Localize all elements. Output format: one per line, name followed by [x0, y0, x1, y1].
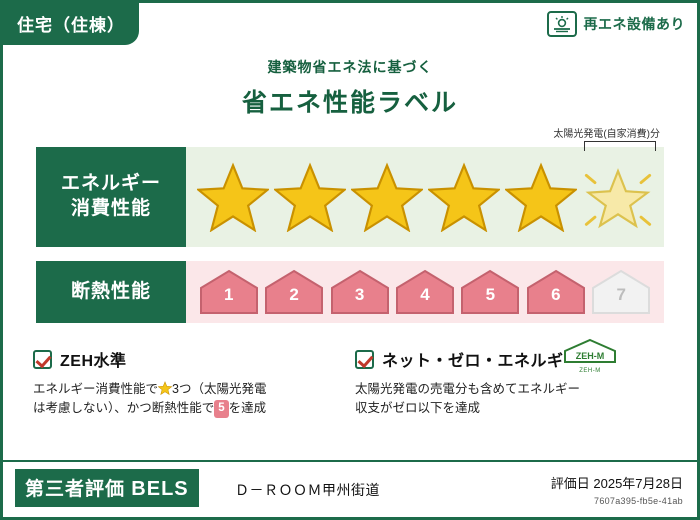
star-icon	[274, 162, 346, 232]
check-icon	[33, 350, 52, 369]
nz-body-1: 太陽光発電の売電分も含めてエネルギー	[355, 380, 675, 399]
criterion-net-zero: ネット・ゼロ・エネルギー ZEH-M ZEH-M 太陽光発電の売電分も含めてエネ…	[355, 347, 675, 419]
star-icon	[505, 162, 577, 232]
title-sub: 建築物省エネ法に基づく	[3, 57, 697, 77]
insulation-level-7: 7	[590, 268, 652, 316]
star-icon	[351, 162, 423, 232]
title-block: 建築物省エネ法に基づく 省エネ性能ラベル	[3, 57, 697, 119]
zeh-body-2: 3つ（太陽光発電	[172, 382, 266, 396]
eval-date-line: 評価日 2025年7月28日	[551, 473, 683, 492]
criterion-zeh-body: エネルギー消費性能で3つ（太陽光発電 は考慮しない）、かつ断熱性能で5を達成	[33, 380, 333, 419]
insulation-performance-label: 断熱性能	[36, 261, 186, 323]
label-page: 住宅（住棟） 再エネ設備あり 建築物省エネ法に基づく 省エネ性能ラベル エネルギ…	[0, 0, 700, 520]
page-title: 省エネ性能ラベル	[3, 83, 697, 119]
star-icon	[428, 162, 500, 232]
zeh-m-badge: ZEH-M ZEH-M	[561, 338, 619, 374]
zeh-body-3: は考慮しない）、かつ断熱性能で	[33, 401, 214, 415]
zeh-body-1: エネルギー消費性能で	[33, 382, 158, 396]
sun-icon	[547, 11, 577, 37]
star-icon-pv	[582, 162, 654, 232]
insulation-performance-row: 断熱性能 1 2 3 4 5 6	[36, 261, 664, 323]
footer-divider	[3, 460, 697, 462]
zeh-m-caption: ZEH-M	[561, 368, 619, 374]
bels-badge: 第三者評価 BELS	[15, 469, 199, 507]
third-party-label: 第三者評価	[25, 479, 125, 500]
zeh-body-4: を達成	[229, 401, 267, 415]
insulation-level-6: 6	[525, 268, 587, 316]
insulation-level-number: 4	[394, 285, 456, 305]
eval-date-value: 2025年7月28日	[593, 476, 683, 491]
energy-stars: 太陽光発電(自家消費)分	[186, 147, 664, 247]
nz-body-2: 収支がゼロ以下を達成	[355, 399, 675, 418]
check-icon	[355, 350, 374, 369]
bels-label: BELS	[131, 478, 188, 500]
insulation-level-number: 5	[459, 285, 521, 305]
criterion-net-zero-body: 太陽光発電の売電分も含めてエネルギー 収支がゼロ以下を達成	[355, 380, 675, 419]
zeh-level-badge: 5	[214, 400, 228, 418]
criterion-zeh-head: ZEH水準	[33, 347, 333, 371]
criterion-zeh: ZEH水準 エネルギー消費性能で3つ（太陽光発電 は考慮しない）、かつ断熱性能で…	[33, 347, 333, 419]
building-type-badge: 住宅（住棟）	[3, 3, 139, 45]
pv-bracket	[584, 141, 656, 151]
insulation-levels: 1 2 3 4 5 6 7	[186, 261, 664, 323]
zeh-m-house-icon: ZEH-M	[562, 338, 618, 364]
estate-name: Ｄ－ＲＯＯＭ甲州街道	[235, 480, 380, 500]
evaluation-info: 評価日 2025年7月28日 7607a395-fb5e-41ab	[551, 473, 683, 506]
insulation-level-2: 2	[263, 268, 325, 316]
criterion-net-zero-title: ネット・ゼロ・エネルギー	[382, 347, 580, 371]
energy-performance-row: エネルギー 消費性能 太陽光発電(自家消費)分	[36, 147, 664, 247]
energy-label-line1: エネルギー	[61, 172, 161, 197]
svg-text:ZEH-M: ZEH-M	[576, 351, 605, 361]
insulation-level-number: 1	[198, 285, 260, 305]
eval-date-label: 評価日	[551, 476, 590, 491]
insulation-level-4: 4	[394, 268, 456, 316]
insulation-level-1: 1	[198, 268, 260, 316]
criterion-zeh-title: ZEH水準	[60, 347, 127, 371]
eval-id: 7607a395-fb5e-41ab	[551, 496, 683, 506]
star-icon-small	[158, 381, 172, 395]
insulation-level-number: 6	[525, 285, 587, 305]
energy-performance-label: エネルギー 消費性能	[36, 147, 186, 247]
criterion-net-zero-head: ネット・ゼロ・エネルギー ZEH-M ZEH-M	[355, 347, 675, 371]
insulation-level-number: 2	[263, 285, 325, 305]
insulation-level-number: 7	[590, 285, 652, 305]
star-icon	[197, 162, 269, 232]
renewable-label: 再エネ設備あり	[584, 14, 686, 34]
renewable-equipment-badge: 再エネ設備あり	[547, 11, 686, 37]
insulation-level-5: 5	[459, 268, 521, 316]
insulation-level-3: 3	[329, 268, 391, 316]
insulation-level-number: 3	[329, 285, 391, 305]
pv-note: 太陽光発電(自家消費)分	[553, 125, 660, 140]
energy-label-line2: 消費性能	[61, 197, 161, 222]
